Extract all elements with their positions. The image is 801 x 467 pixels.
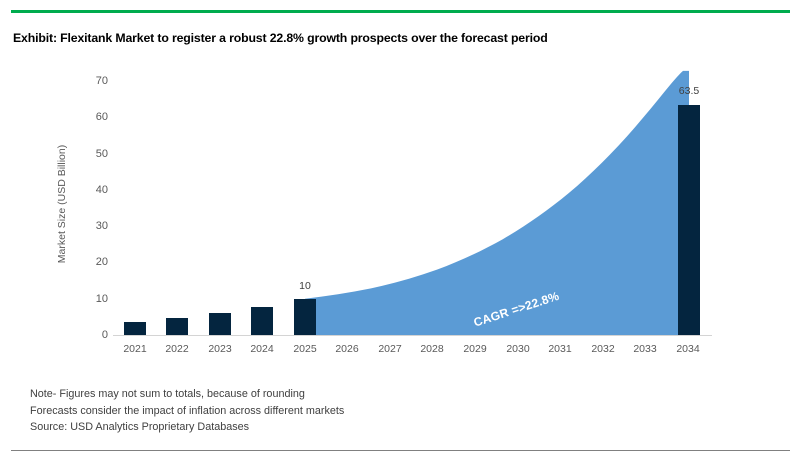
data-label-2034: 63.5 (659, 85, 719, 97)
footer-notes: Note- Figures may not sum to totals, bec… (30, 386, 344, 436)
footer-source: Source: USD Analytics Proprietary Databa… (30, 419, 344, 436)
bar-2023 (209, 313, 231, 335)
footer-note-inflation: Forecasts consider the impact of inflati… (30, 403, 344, 420)
exhibit-container: Exhibit: Flexitank Market to register a … (0, 0, 801, 467)
bar-2021 (124, 322, 146, 335)
bar-2022 (166, 318, 188, 335)
x-axis-baseline (113, 335, 712, 336)
chart-plot-area: Market Size (USD Billion) 0 10 20 30 40 … (0, 60, 801, 370)
page-title: Exhibit: Flexitank Market to register a … (13, 31, 773, 45)
bar-2034 (678, 105, 700, 336)
bar-2024 (251, 307, 273, 335)
top-accent-rule (11, 10, 790, 13)
x-tick-2034: 2034 (658, 343, 718, 355)
bar-2025 (294, 299, 316, 335)
footer-note-rounding: Note- Figures may not sum to totals, bec… (30, 386, 344, 403)
data-label-2025: 10 (275, 280, 335, 292)
bottom-rule (11, 450, 790, 451)
